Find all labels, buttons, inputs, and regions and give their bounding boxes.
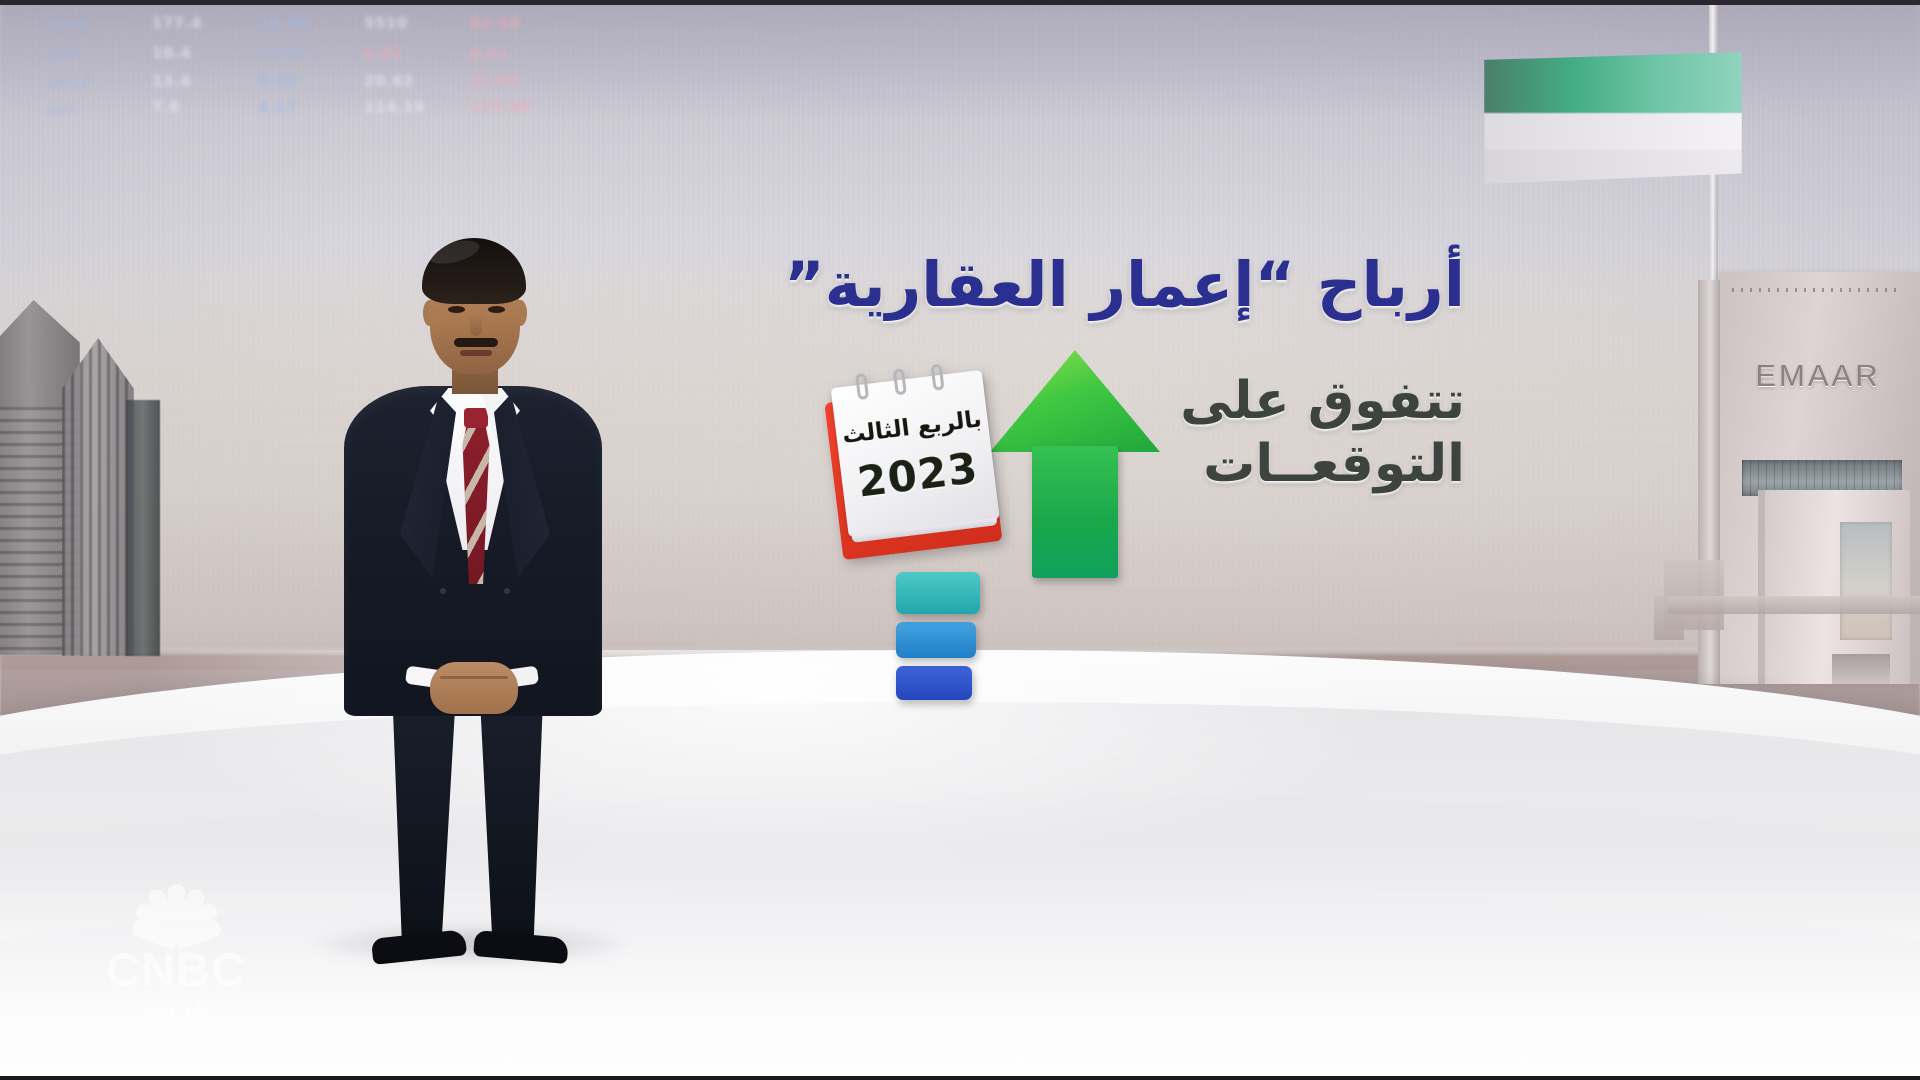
tower-trim [1732,288,1902,292]
chart-bar-2 [896,622,976,658]
page-title: أرباح “إعمار العقارية” [784,252,1465,318]
ticker-change: 177.4 [152,14,218,40]
uae-flag-icon [1484,34,1814,244]
ticker-pct: 12.40 [258,14,324,40]
ticker-symbol: إعمار [46,14,112,40]
ticker-change: 10.4 [152,44,218,70]
ticker-pct: 11.06 [258,44,324,70]
ticker-last: 21.06 [470,72,536,98]
emaar-sign: EMAAR [1738,358,1898,394]
broadcast-screen: إعمار 177.4 12.40 5510 82.59 الدار 10.4 … [0,0,1920,1080]
news-anchor [318,238,626,958]
ticker-last: 115.40 [470,98,536,118]
letterbox-top [0,0,1920,5]
channel-name: CNBC [86,942,266,997]
headline-block: أرباح “إعمار العقارية” [784,252,1465,318]
anchor-hair [422,238,526,304]
ticker-value: 20.62 [364,72,430,98]
ticker-last: 6.61 [470,44,536,70]
chart-bar-3 [896,666,972,700]
ticker-value: 114.19 [364,98,430,118]
up-arrow-icon [990,350,1160,580]
ticker-change: 13.4 [152,72,218,98]
skyline-tower-glass [126,400,160,656]
infographic: بالربع الثالث 2023 [850,350,1390,650]
ticker-pct: 9.20 [258,72,324,98]
ticker-value: 5510 [364,14,430,40]
ticker-pct: 4.17 [258,98,324,118]
channel-logo: CNBC عربية [86,880,266,1030]
ticker-symbol: دبي [46,98,112,118]
ticker-symbol: الدار [46,44,112,70]
ticker-value: 6.51 [364,44,430,70]
ticker-change: 7.6 [152,98,218,118]
ticker-last: 82.59 [470,14,536,40]
channel-name-arabic: عربية [86,992,266,1021]
ticker-symbol: أرابتك [46,72,112,98]
set-base [1668,596,1920,614]
skyline-tower-mid [62,338,134,656]
calendar-icon: بالربع الثالث 2023 [831,369,1010,551]
letterbox-bottom [0,1076,1920,1080]
tower-window [1840,522,1892,640]
flag-cloth [1484,52,1742,184]
peacock-icon [108,880,238,942]
chart-bar-1 [896,572,980,614]
anchor-hands [430,662,518,714]
anchor-legs [374,708,572,944]
studio-floor [0,650,1920,1080]
